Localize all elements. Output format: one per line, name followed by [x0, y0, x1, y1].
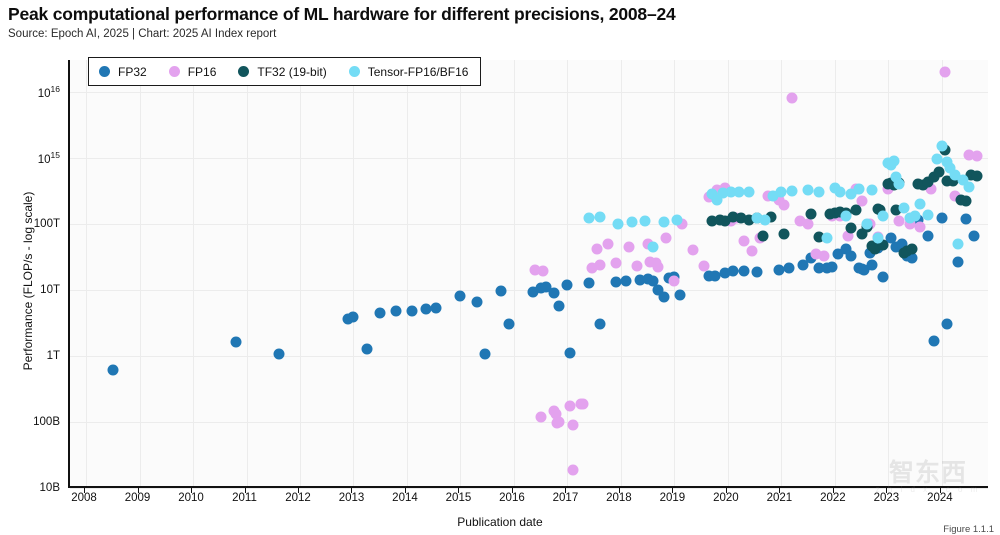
scatter-point — [594, 212, 605, 223]
x-axis-tick-label: 2023 — [874, 492, 900, 504]
x-axis-tick-label: 2021 — [767, 492, 793, 504]
scatter-point — [746, 245, 757, 256]
scatter-point — [594, 319, 605, 330]
scatter-point — [688, 244, 699, 255]
scatter-point — [621, 276, 632, 287]
scatter-point — [936, 213, 947, 224]
scatter-point — [578, 399, 589, 410]
scatter-point — [803, 218, 814, 229]
x-axis-tick-label: 2020 — [713, 492, 739, 504]
scatter-point — [658, 217, 669, 228]
scatter-point — [455, 291, 466, 302]
chart-container: Peak computational performance of ML har… — [0, 0, 1000, 535]
scatter-point — [738, 265, 749, 276]
x-axis-tick-mark — [512, 488, 513, 493]
scatter-point — [610, 277, 621, 288]
x-axis-tick-label: 2018 — [606, 492, 632, 504]
legend-marker-icon — [99, 66, 110, 77]
scatter-point — [845, 251, 856, 262]
scatter-point — [658, 291, 669, 302]
scatter-point — [107, 364, 118, 375]
scatter-point — [760, 214, 771, 225]
x-axis-tick-mark — [298, 488, 299, 493]
scatter-point — [583, 278, 594, 289]
x-axis-tick-mark — [726, 488, 727, 493]
scatter-point — [968, 230, 979, 241]
scatter-point — [757, 231, 768, 242]
scatter-point — [813, 187, 824, 198]
scatter-point — [960, 196, 971, 207]
scatter-point — [230, 337, 241, 348]
scatter-point — [431, 302, 442, 313]
scatter-point — [819, 251, 830, 262]
legend-item[interactable]: FP32 — [99, 65, 147, 79]
x-axis-tick-mark — [84, 488, 85, 493]
x-axis-tick-label: 2022 — [820, 492, 846, 504]
scatter-point — [907, 243, 918, 254]
scatter-point — [845, 223, 856, 234]
legend-label: FP32 — [118, 65, 147, 79]
x-axis-tick-mark — [351, 488, 352, 493]
scatter-point — [872, 233, 883, 244]
x-axis-tick-label: 2014 — [392, 492, 418, 504]
scatter-point — [698, 260, 709, 271]
scatter-point — [952, 257, 963, 268]
scatter-point — [888, 155, 899, 166]
scatter-point — [971, 151, 982, 162]
scatter-point — [952, 238, 963, 249]
scatter-point — [674, 290, 685, 301]
scatter-point — [273, 349, 284, 360]
scatter-point — [931, 154, 942, 165]
scatter-point — [661, 233, 672, 244]
scatter-point — [939, 66, 950, 77]
x-axis-tick-mark — [191, 488, 192, 493]
gridline-horizontal — [70, 488, 988, 489]
x-axis-tick-mark — [940, 488, 941, 493]
scatter-point — [631, 260, 642, 271]
x-axis-tick-mark — [672, 488, 673, 493]
x-axis-tick-label: 2015 — [446, 492, 472, 504]
scatter-point — [840, 211, 851, 222]
legend: FP32FP16TF32 (19-bit)Tensor-FP16/BF16 — [88, 57, 481, 86]
scatter-point — [784, 263, 795, 274]
legend-item[interactable]: TF32 (19-bit) — [238, 65, 326, 79]
scatter-point — [648, 241, 659, 252]
scatter-point — [894, 215, 905, 226]
scatter-point — [787, 186, 798, 197]
scatter-point — [963, 181, 974, 192]
scatter-point — [744, 187, 755, 198]
scatter-point — [669, 276, 680, 287]
scatter-point — [471, 296, 482, 307]
scatter-point — [827, 262, 838, 273]
scatter-point — [709, 270, 720, 281]
scatter-point — [960, 213, 971, 224]
scatter-point — [479, 348, 490, 359]
scatter-point — [779, 228, 790, 239]
scatter-point — [567, 419, 578, 430]
x-axis-tick-mark — [405, 488, 406, 493]
scatter-point — [538, 266, 549, 277]
x-axis-tick-label: 2016 — [499, 492, 525, 504]
scatter-point — [391, 306, 402, 317]
scatter-point — [503, 319, 514, 330]
legend-item[interactable]: FP16 — [169, 65, 217, 79]
scatter-point — [923, 210, 934, 221]
scatter-point — [773, 264, 784, 275]
scatter-point — [738, 235, 749, 246]
scatter-point — [878, 272, 889, 283]
scatter-point — [923, 231, 934, 242]
x-axis-tick-label: 2013 — [339, 492, 365, 504]
scatter-point — [602, 239, 613, 250]
scatter-point — [583, 213, 594, 224]
x-axis-tick-label: 2017 — [553, 492, 579, 504]
scatter-point — [910, 211, 921, 222]
scatter-point — [554, 301, 565, 312]
scatter-point — [867, 259, 878, 270]
scatter-point — [653, 262, 664, 273]
plot-area — [68, 60, 988, 488]
scatter-point — [878, 211, 889, 222]
x-axis-tick-label: 2009 — [125, 492, 151, 504]
scatter-point — [915, 221, 926, 232]
scatter-point — [348, 311, 359, 322]
x-axis-tick-label: 2024 — [927, 492, 953, 504]
x-axis-tick-label: 2010 — [178, 492, 204, 504]
y-axis-tick-label: 10B — [0, 482, 60, 494]
scatter-point — [942, 319, 953, 330]
scatter-point — [640, 215, 651, 226]
scatter-point — [835, 187, 846, 198]
scatter-point — [936, 140, 947, 151]
legend-item[interactable]: Tensor-FP16/BF16 — [349, 65, 469, 79]
scatter-point — [495, 285, 506, 296]
scatter-points-layer — [70, 60, 988, 486]
scatter-point — [971, 171, 982, 182]
scatter-point — [805, 209, 816, 220]
scatter-point — [591, 243, 602, 254]
legend-label: Tensor-FP16/BF16 — [368, 65, 469, 79]
legend-marker-icon — [349, 66, 360, 77]
scatter-point — [535, 411, 546, 422]
scatter-point — [567, 464, 578, 475]
scatter-point — [851, 205, 862, 216]
x-axis-tick-mark — [833, 488, 834, 493]
scatter-point — [803, 185, 814, 196]
scatter-point — [375, 308, 386, 319]
scatter-point — [853, 183, 864, 194]
x-axis-title: Publication date — [0, 515, 1000, 529]
x-axis-tick-label: 2019 — [660, 492, 686, 504]
scatter-point — [594, 259, 605, 270]
scatter-point — [821, 233, 832, 244]
x-axis-tick-mark — [565, 488, 566, 493]
scatter-point — [562, 280, 573, 291]
scatter-point — [613, 218, 624, 229]
scatter-point — [728, 266, 739, 277]
scatter-point — [894, 178, 905, 189]
scatter-point — [779, 200, 790, 211]
legend-label: TF32 (19-bit) — [257, 65, 326, 79]
y-axis-title: Performance (FLOP/s - log scale) — [21, 81, 35, 481]
scatter-point — [787, 92, 798, 103]
legend-label: FP16 — [188, 65, 217, 79]
scatter-point — [928, 335, 939, 346]
scatter-point — [361, 344, 372, 355]
scatter-point — [626, 217, 637, 228]
scatter-point — [861, 218, 872, 229]
x-axis-tick-mark — [138, 488, 139, 493]
scatter-point — [752, 267, 763, 278]
scatter-point — [407, 305, 418, 316]
x-axis-tick-mark — [619, 488, 620, 493]
scatter-point — [623, 241, 634, 252]
scatter-point — [867, 185, 878, 196]
scatter-point — [554, 416, 565, 427]
x-axis-tick-mark — [458, 488, 459, 493]
x-axis-tick-label: 2008 — [71, 492, 97, 504]
x-axis-tick-label: 2012 — [285, 492, 311, 504]
scatter-point — [565, 348, 576, 359]
chart-title: Peak computational performance of ML har… — [8, 4, 676, 25]
legend-marker-icon — [238, 66, 249, 77]
scatter-point — [733, 187, 744, 198]
scatter-point — [672, 214, 683, 225]
scatter-point — [565, 400, 576, 411]
scatter-point — [915, 198, 926, 209]
figure-caption: Figure 1.1.1 — [943, 524, 994, 535]
scatter-point — [549, 287, 560, 298]
x-axis-tick-label: 2011 — [232, 492, 257, 504]
x-axis-tick-mark — [245, 488, 246, 493]
scatter-point — [610, 258, 621, 269]
scatter-point — [420, 304, 431, 315]
x-axis-tick-mark — [779, 488, 780, 493]
scatter-point — [776, 187, 787, 198]
x-axis-tick-mark — [886, 488, 887, 493]
legend-marker-icon — [169, 66, 180, 77]
